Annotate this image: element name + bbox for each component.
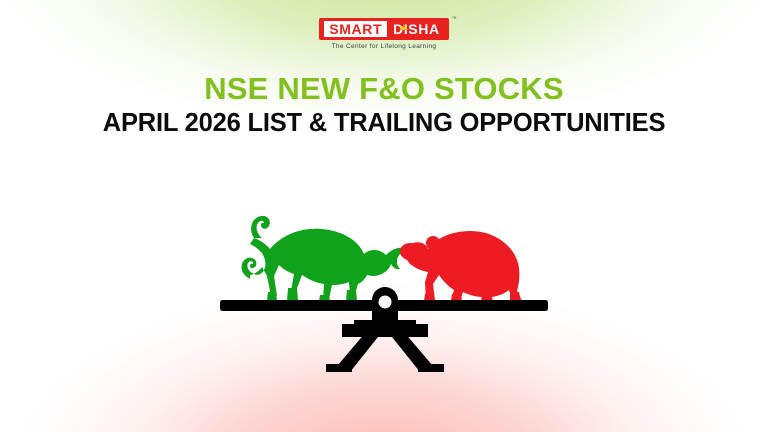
brand-logo: SMART DISHA ™ The Center for Lifelong Le… — [0, 18, 768, 50]
logo-word-disha-wrap: DISHA — [387, 21, 444, 37]
headline-secondary: APRIL 2026 LIST & TRAILING OPPORTUNITIES — [0, 109, 768, 138]
bull-bear-balance-illustration — [214, 172, 554, 372]
bear-icon — [400, 231, 522, 301]
poster-canvas: SMART DISHA ™ The Center for Lifelong Le… — [0, 0, 768, 432]
logo-badge: SMART DISHA ™ — [319, 18, 448, 40]
logo-word-smart: SMART — [324, 21, 387, 37]
trademark-symbol: ™ — [452, 16, 457, 22]
headline-block: NSE NEW F&O STOCKS APRIL 2026 LIST & TRA… — [0, 72, 768, 138]
headline-primary: NSE NEW F&O STOCKS — [0, 72, 768, 106]
crown-ornament-icon — [399, 17, 408, 23]
logo-tagline: The Center for Lifelong Learning — [332, 43, 437, 50]
